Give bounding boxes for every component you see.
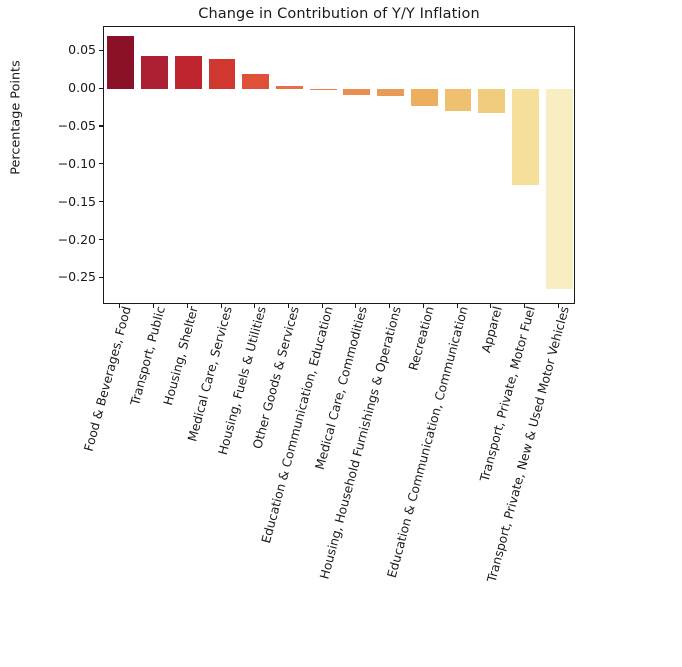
y-tick-mark: [99, 277, 103, 278]
bar: [242, 74, 269, 89]
y-axis-tick-labels: 0.050.00−0.05−0.10−0.15−0.20−0.25: [0, 0, 96, 667]
y-tick-label: −0.20: [58, 232, 96, 247]
bar: [546, 89, 573, 289]
bar: [377, 89, 404, 95]
y-tick-mark: [99, 50, 103, 51]
chart-title: Change in Contribution of Y/Y Inflation: [103, 6, 575, 22]
bar: [310, 89, 337, 90]
bar: [276, 86, 303, 89]
bar: [512, 89, 539, 184]
y-tick-label: −0.15: [58, 194, 96, 209]
x-tick-label-text: Recreation: [408, 305, 437, 372]
bar: [141, 56, 168, 89]
y-tick-mark: [99, 201, 103, 202]
bar: [445, 89, 472, 111]
plot-area: [104, 27, 574, 303]
y-tick-mark: [99, 88, 103, 89]
bar: [411, 89, 438, 106]
y-tick-label: −0.05: [58, 118, 96, 133]
x-tick-label-text: Transport, Public: [128, 305, 167, 407]
x-tick-label-text: Housing, Shelter: [162, 305, 201, 407]
bar: [107, 36, 134, 89]
bar: [209, 59, 236, 89]
bar: [175, 56, 202, 89]
figure: Change in Contribution of Y/Y Inflation …: [0, 0, 682, 667]
y-tick-label: −0.25: [58, 269, 96, 284]
x-tick-label-text: Apparel: [480, 305, 505, 354]
y-tick-label: −0.10: [58, 156, 96, 171]
bar: [478, 89, 505, 113]
y-tick-mark: [99, 125, 103, 126]
y-tick-label: 0.05: [68, 42, 96, 57]
bar: [343, 89, 370, 95]
y-tick-mark: [99, 239, 103, 240]
y-tick-mark: [99, 163, 103, 164]
plot-axes: [103, 26, 575, 304]
y-tick-label: 0.00: [68, 80, 96, 95]
